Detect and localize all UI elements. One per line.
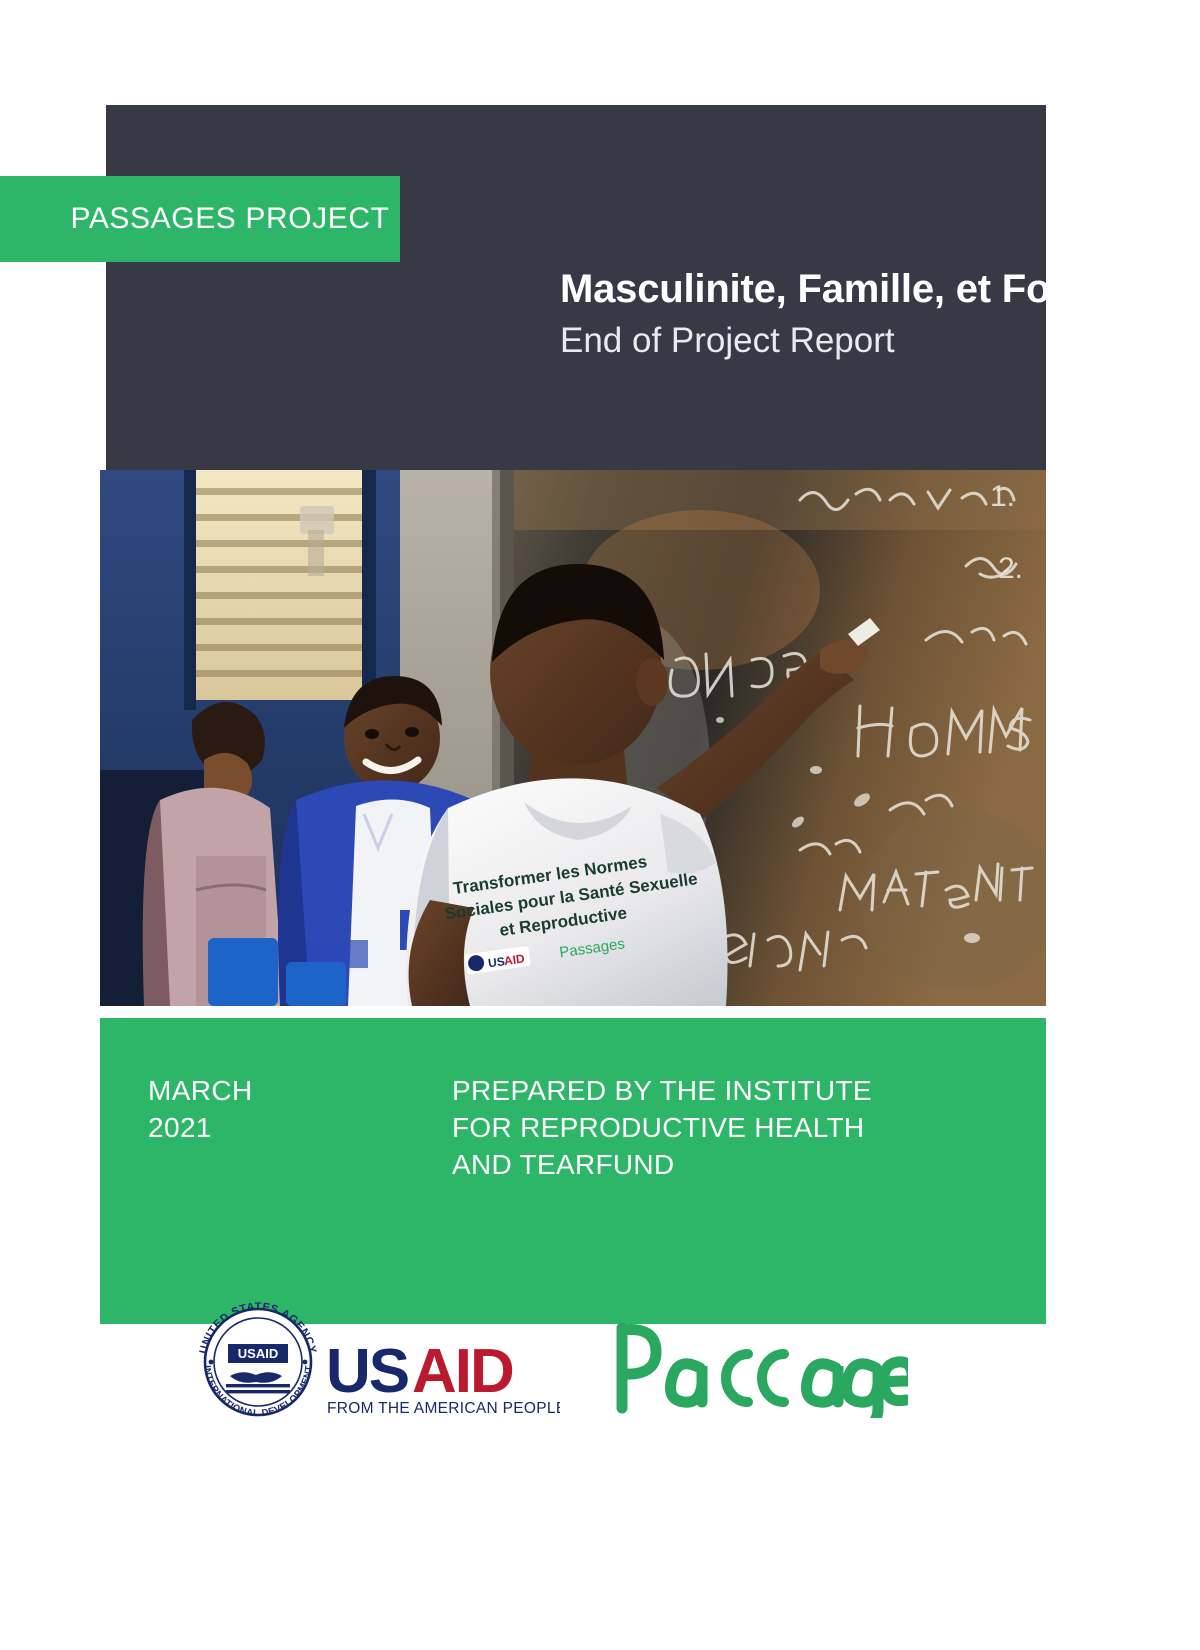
publication-year: 2021	[148, 1110, 253, 1147]
svg-text:2.: 2.	[998, 552, 1023, 585]
prepared-by-line-3: AND TEARFUND	[452, 1147, 872, 1184]
usaid-seal-badge: USAID	[238, 1346, 278, 1361]
project-tab-label: PASSAGES PROJECT	[70, 202, 389, 236]
project-tab: PASSAGES PROJECT	[0, 176, 400, 262]
page-title: Masculinite, Famille, et Foi	[560, 267, 1160, 312]
usaid-logo: UNITED STATES AGENCY INTERNATIONAL DEVEL…	[190, 1300, 560, 1420]
cover-photo: 1. 2.	[100, 470, 1046, 1006]
usaid-wordmark-aid: AID	[412, 1337, 513, 1406]
usaid-wordmark-us: US	[326, 1337, 408, 1406]
svg-text:1.: 1.	[990, 480, 1015, 513]
svg-text:AID: AID	[503, 951, 526, 968]
prepared-by-line-2: FOR REPRODUCTIVE HEALTH	[452, 1110, 872, 1147]
title-group: Masculinite, Famille, et Foi End of Proj…	[560, 267, 1160, 362]
page-subtitle: End of Project Report	[560, 320, 1160, 362]
logo-row: UNITED STATES AGENCY INTERNATIONAL DEVEL…	[190, 1300, 910, 1440]
prepared-by-line-1: PREPARED BY THE INSTITUTE	[452, 1073, 872, 1110]
header-block: Masculinite, Famille, et Foi End of Proj…	[106, 105, 1046, 478]
passages-logo: Passages	[608, 1308, 908, 1418]
usaid-tagline: FROM THE AMERICAN PEOPLE	[327, 1400, 560, 1417]
publication-date: MARCH 2021	[148, 1073, 253, 1147]
prepared-by: PREPARED BY THE INSTITUTE FOR REPRODUCTI…	[452, 1073, 872, 1184]
cover-page: Masculinite, Famille, et Foi End of Proj…	[0, 0, 1200, 1650]
footer-band: MARCH 2021 PREPARED BY THE INSTITUTE FOR…	[100, 1018, 1046, 1324]
publication-month: MARCH	[148, 1073, 253, 1110]
